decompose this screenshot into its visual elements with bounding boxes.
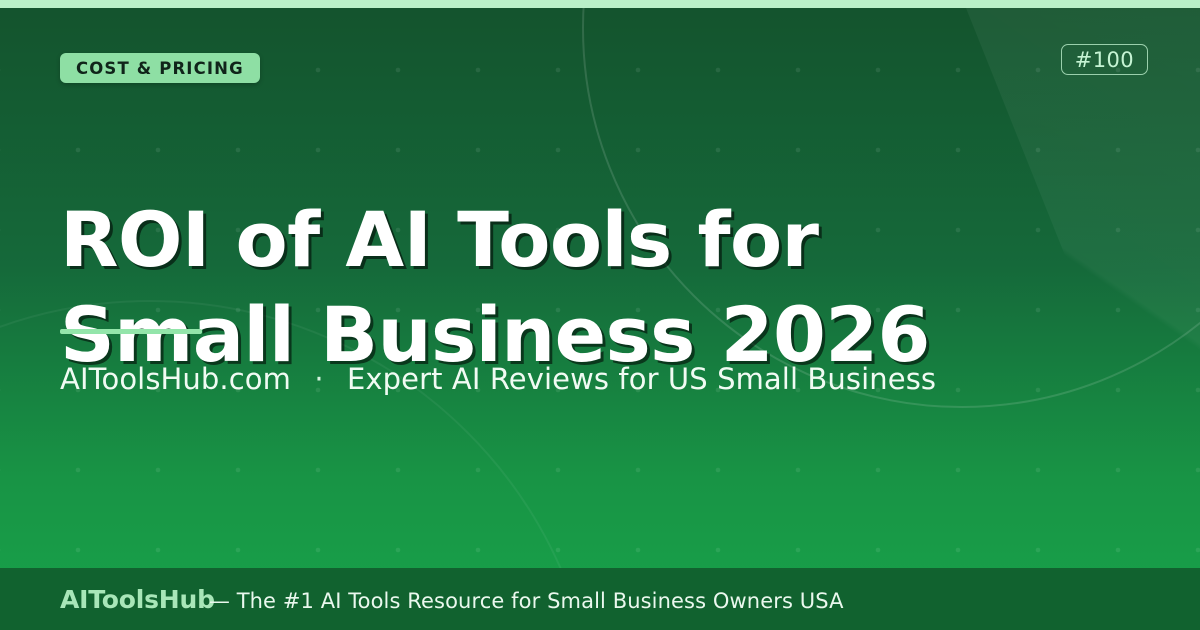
footer-tagline: — The #1 AI Tools Resource for Small Bus… xyxy=(209,589,844,613)
issue-number-chip: #100 xyxy=(1061,44,1148,75)
subtitle-site: AIToolsHub.com xyxy=(60,362,291,396)
footer-content: AIToolsHub — The #1 AI Tools Resource fo… xyxy=(0,585,844,614)
top-accent-bar xyxy=(0,0,1200,8)
footer-brand-name: AIToolsHub xyxy=(60,585,215,614)
subtitle: AIToolsHub.com · Expert AI Reviews for U… xyxy=(60,362,936,396)
title-divider xyxy=(60,329,202,334)
category-badge: COST & PRICING xyxy=(60,53,260,83)
category-badge-label: COST & PRICING xyxy=(76,59,244,78)
subtitle-description: Expert AI Reviews for US Small Business xyxy=(347,362,936,396)
footer-bar: AIToolsHub — The #1 AI Tools Resource fo… xyxy=(0,568,1200,630)
issue-number-label: #100 xyxy=(1075,48,1134,72)
social-share-card: COST & PRICING #100 ROI of AI Tools for … xyxy=(0,0,1200,630)
subtitle-separator: · xyxy=(300,362,337,396)
page-title: ROI of AI Tools for Small Business 2026 xyxy=(60,192,1060,382)
